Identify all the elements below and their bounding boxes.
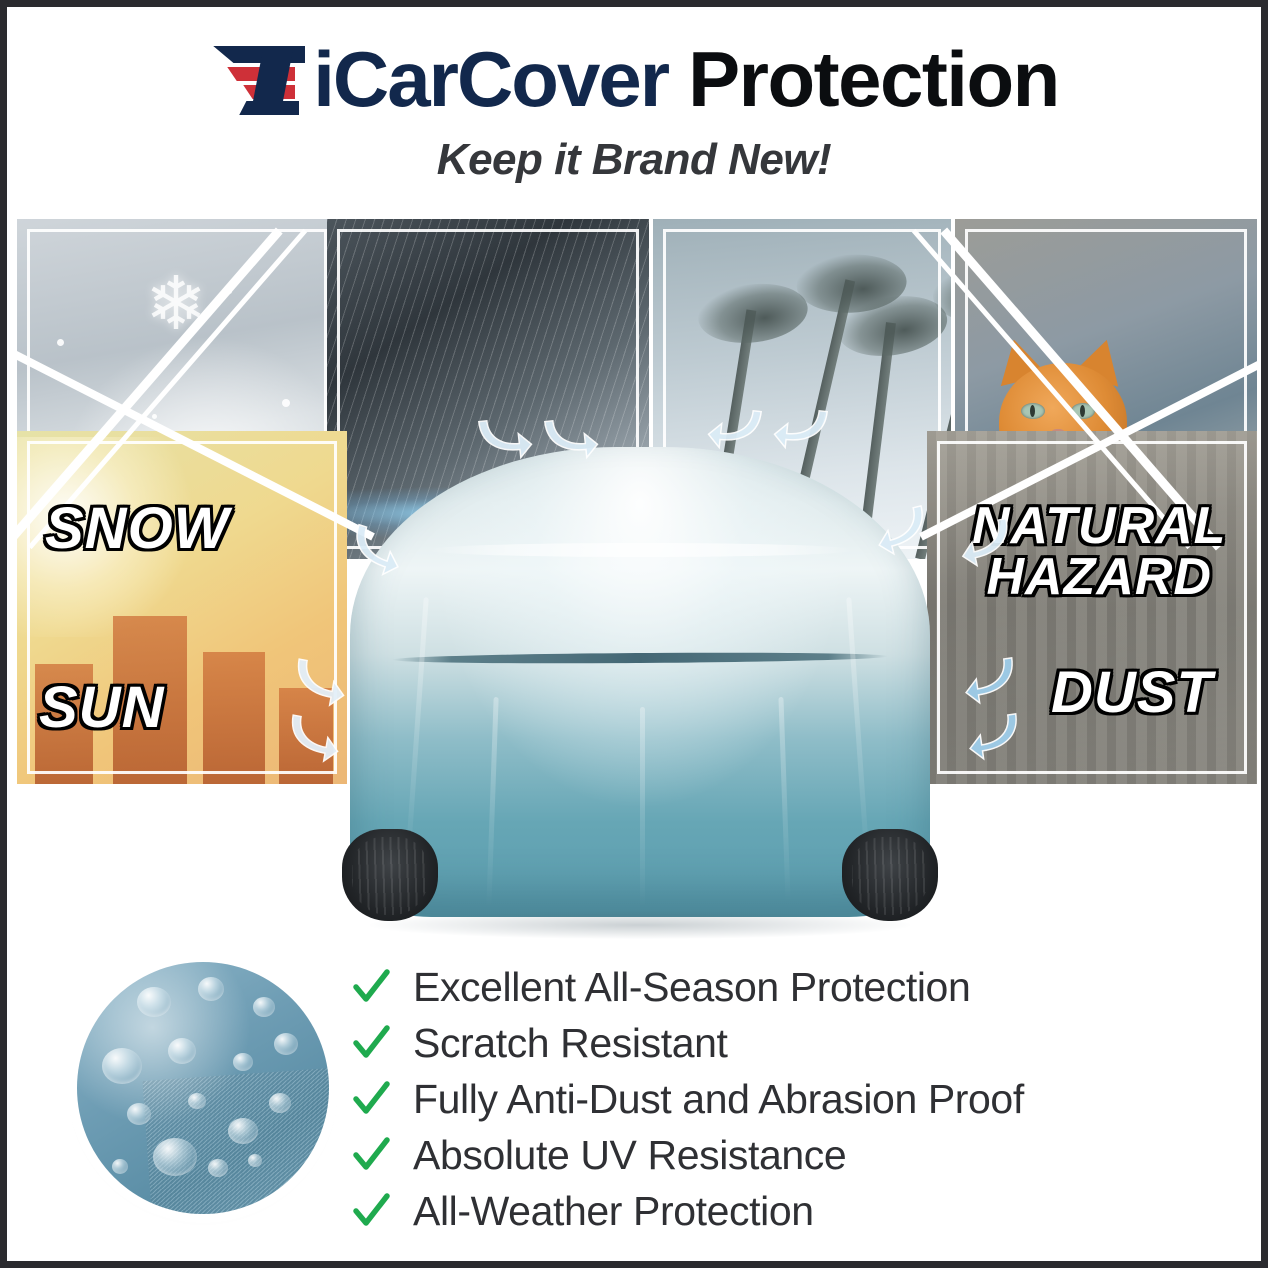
icarcover-wing-logo-icon [209, 43, 305, 115]
feature-label: Absolute UV Resistance [413, 1132, 846, 1179]
list-item: Fully Anti-Dust and Abrasion Proof [351, 1071, 1231, 1127]
title-row: iCarCover Protection [7, 31, 1261, 127]
curved-deflection-arrow-icon [964, 709, 1027, 768]
curved-deflection-arrow-icon [770, 402, 831, 460]
feature-label: Fully Anti-Dust and Abrasion Proof [413, 1076, 1024, 1123]
feature-list: Excellent All-Season Protection Scratch … [351, 959, 1231, 1239]
tagline: Keep it Brand New! [7, 135, 1261, 185]
feature-label: All-Weather Protection [413, 1188, 814, 1235]
green-checkmark-icon [351, 1023, 391, 1063]
green-checkmark-icon [351, 1079, 391, 1119]
curved-deflection-arrow-icon [704, 402, 765, 460]
green-checkmark-icon [351, 1135, 391, 1175]
green-checkmark-icon [351, 1191, 391, 1231]
feature-label: Scratch Resistant [413, 1020, 728, 1067]
tire-right [842, 829, 938, 921]
list-item: Absolute UV Resistance [351, 1127, 1231, 1183]
curved-deflection-arrow-icon [287, 655, 351, 716]
list-item: Excellent All-Season Protection [351, 959, 1231, 1015]
brand-name: iCarCover [313, 40, 668, 118]
product-marketing-image: iCarCover Protection Keep it Brand New! … [0, 0, 1268, 1268]
list-item: All-Weather Protection [351, 1183, 1231, 1239]
covered-car-front-view [340, 447, 940, 947]
water-beading-fabric-closeup [77, 962, 329, 1214]
hazard-label-sun: SUN [39, 680, 164, 737]
header: iCarCover Protection Keep it Brand New! [7, 31, 1261, 185]
hazard-label-snow: SNOW [45, 501, 229, 558]
product-word: Protection [688, 40, 1059, 118]
snowflake-icon: ❄ [145, 267, 207, 341]
hazard-label-dust: DUST [1051, 665, 1213, 722]
curved-deflection-arrow-icon [540, 412, 601, 470]
curved-deflection-arrow-icon [474, 412, 535, 470]
tire-left [342, 829, 438, 921]
list-item: Scratch Resistant [351, 1015, 1231, 1071]
green-checkmark-icon [351, 967, 391, 1007]
curved-deflection-arrow-icon [281, 711, 345, 772]
feature-label: Excellent All-Season Protection [413, 964, 970, 1011]
curved-deflection-arrow-icon [960, 653, 1023, 712]
